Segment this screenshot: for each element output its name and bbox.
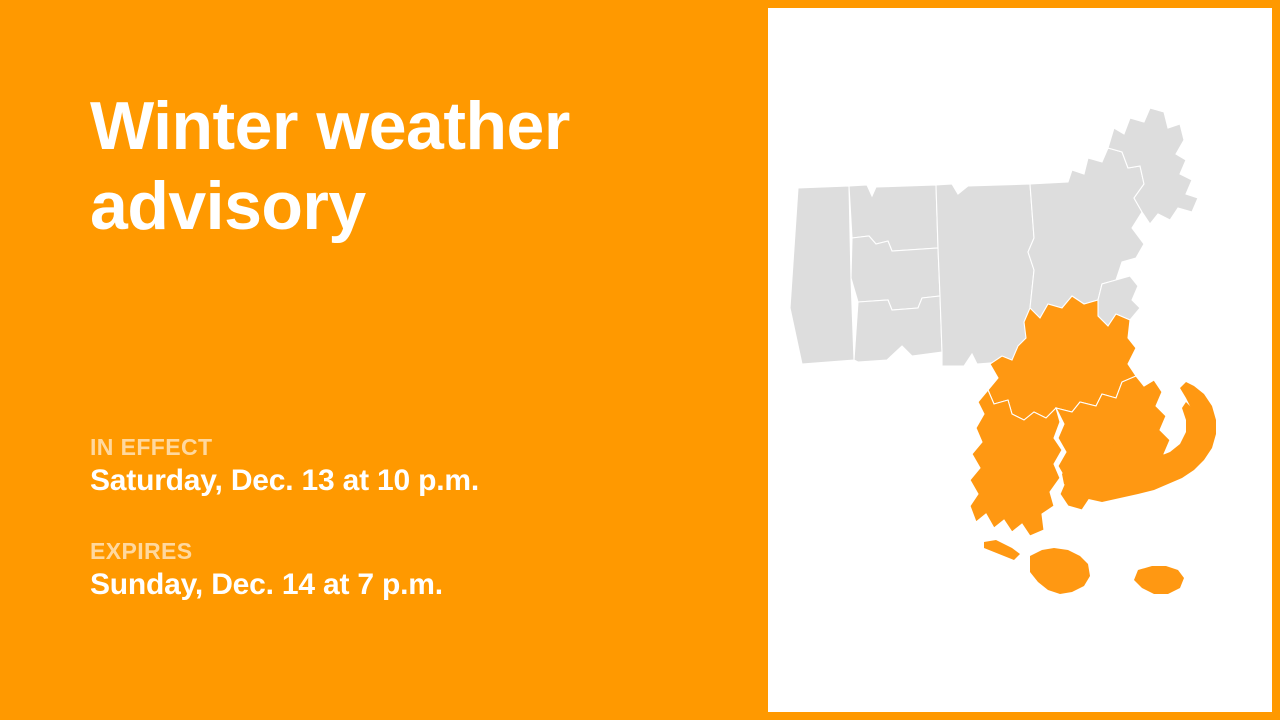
alert-times-block: IN EFFECT Saturday, Dec. 13 at 10 p.m. E…: [90, 434, 730, 604]
alert-text-panel: Winter weather advisory IN EFFECT Saturd…: [0, 0, 768, 720]
in-effect-value: Saturday, Dec. 13 at 10 p.m.: [90, 462, 730, 500]
map-canvas: [768, 8, 1272, 712]
weather-advisory-card: Winter weather advisory IN EFFECT Saturd…: [0, 0, 1280, 720]
expires-value: Sunday, Dec. 14 at 7 p.m.: [90, 566, 730, 604]
page-title: Winter weather advisory: [90, 86, 710, 246]
map-panel: [768, 0, 1280, 720]
massachusetts-county-map: [768, 8, 1272, 712]
county-berkshire: [790, 186, 854, 364]
expires-group: EXPIRES Sunday, Dec. 14 at 7 p.m.: [90, 538, 730, 604]
county-worcester: [936, 184, 1036, 366]
county-nantucket: [1134, 566, 1184, 594]
expires-label: EXPIRES: [90, 538, 730, 565]
county-dukes-marthas-vineyard: [1030, 548, 1090, 594]
in-effect-group: IN EFFECT Saturday, Dec. 13 at 10 p.m.: [90, 434, 730, 500]
elizabeth-islands: [984, 540, 1020, 560]
in-effect-label: IN EFFECT: [90, 434, 730, 461]
